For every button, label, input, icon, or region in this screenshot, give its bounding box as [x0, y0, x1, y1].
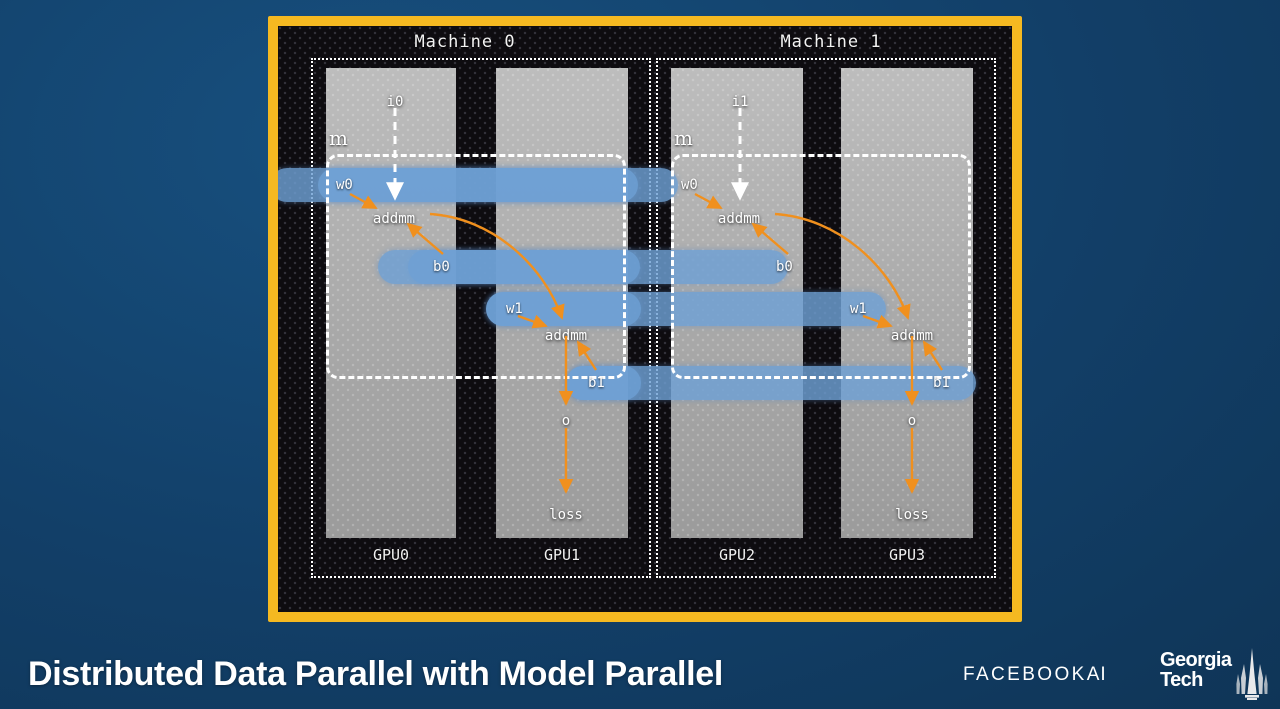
gpu-0-label: GPU0 — [326, 546, 456, 568]
node-addmm1-machine0: addmm — [373, 211, 415, 227]
facebook-logo-word: FACEBOOK — [963, 664, 1087, 685]
machine-1-title: Machine 1 — [656, 32, 1006, 52]
node-addmm2-machine1: addmm — [891, 328, 933, 344]
slide-title: Distributed Data Parallel with Model Par… — [28, 655, 723, 694]
figure-frame: Machine 0 Machine 1 m m w0 b0 w1 b1 w0 b… — [268, 16, 1022, 622]
node-output-machine0: o — [562, 413, 570, 429]
model-0-boundary — [326, 154, 626, 379]
node-output-machine1: o — [908, 413, 916, 429]
georgia-tech-tower-icon — [1234, 648, 1270, 700]
gpu-2-label: GPU2 — [671, 546, 803, 568]
node-loss-machine1: loss — [895, 507, 929, 523]
node-loss-machine0: loss — [549, 507, 583, 523]
georgia-tech-wordmark: Georgia Tech — [1160, 650, 1231, 690]
model-1-tag: m — [674, 126, 693, 150]
param-label-w1-machine0: w1 — [506, 301, 523, 317]
param-label-w0-machine0: w0 — [336, 177, 353, 193]
machine-0-title: Machine 0 — [290, 32, 640, 52]
node-input-machine0: i0 — [387, 94, 404, 110]
gpu-1-label: GPU1 — [496, 546, 628, 568]
model-0-tag: m — [329, 126, 348, 150]
param-label-w0-machine1: w0 — [681, 177, 698, 193]
node-addmm1-machine1: addmm — [718, 211, 760, 227]
facebook-ai-logo: FACEBOOKAI — [963, 664, 1107, 686]
model-1-boundary — [671, 154, 971, 379]
georgia-tech-line-2: Tech — [1160, 670, 1231, 690]
param-label-b0-machine0: b0 — [433, 259, 450, 275]
facebook-logo-ai: AI — [1087, 664, 1107, 685]
node-addmm2-machine0: addmm — [545, 328, 587, 344]
param-label-b1-machine1: b1 — [933, 375, 950, 391]
param-label-b0-machine1: b0 — [776, 259, 793, 275]
param-label-w1-machine1: w1 — [850, 301, 867, 317]
node-input-machine1: i1 — [732, 94, 749, 110]
georgia-tech-logo: Georgia Tech — [1160, 650, 1270, 702]
param-label-b1-machine0: b1 — [588, 375, 605, 391]
gpu-3-label: GPU3 — [841, 546, 973, 568]
georgia-tech-line-1: Georgia — [1160, 649, 1231, 671]
figure-canvas: Machine 0 Machine 1 m m w0 b0 w1 b1 w0 b… — [278, 26, 1012, 612]
